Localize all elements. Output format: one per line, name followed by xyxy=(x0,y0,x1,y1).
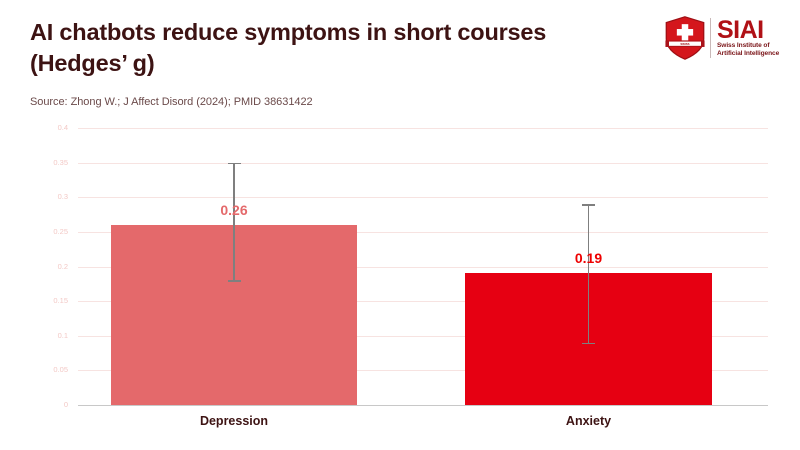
y-axis-tick-label: 0.15 xyxy=(10,297,68,305)
y-axis-tick-label: 0.4 xyxy=(10,124,68,132)
error-bar-cap-lower xyxy=(228,280,241,281)
bar-chart: 00.050.10.150.20.250.30.350.40.26Depress… xyxy=(0,0,800,450)
error-bar-cap-upper xyxy=(228,163,241,164)
y-axis-tick-label: 0.05 xyxy=(10,366,68,374)
y-axis-tick-label: 0.25 xyxy=(10,228,68,236)
y-axis-tick-label: 0 xyxy=(10,401,68,409)
slide-canvas: AI chatbots reduce symptoms in short cou… xyxy=(0,0,800,450)
error-bar-anxiety xyxy=(588,204,589,343)
error-bar-cap-upper xyxy=(582,204,595,205)
y-axis-tick-label: 0.2 xyxy=(10,263,68,271)
gridline xyxy=(78,197,768,198)
x-axis-label-depression: Depression xyxy=(111,415,357,428)
y-axis-tick-label: 0.35 xyxy=(10,159,68,167)
error-bar-depression xyxy=(233,163,234,281)
x-axis-label-anxiety: Anxiety xyxy=(465,415,712,428)
gridline xyxy=(78,128,768,129)
value-label-depression: 0.26 xyxy=(194,203,274,217)
y-axis-tick-label: 0.3 xyxy=(10,193,68,201)
gridline xyxy=(78,163,768,164)
gridline xyxy=(78,405,768,406)
y-axis-tick-label: 0.1 xyxy=(10,332,68,340)
error-bar-cap-lower xyxy=(582,343,595,344)
value-label-anxiety: 0.19 xyxy=(549,251,629,265)
